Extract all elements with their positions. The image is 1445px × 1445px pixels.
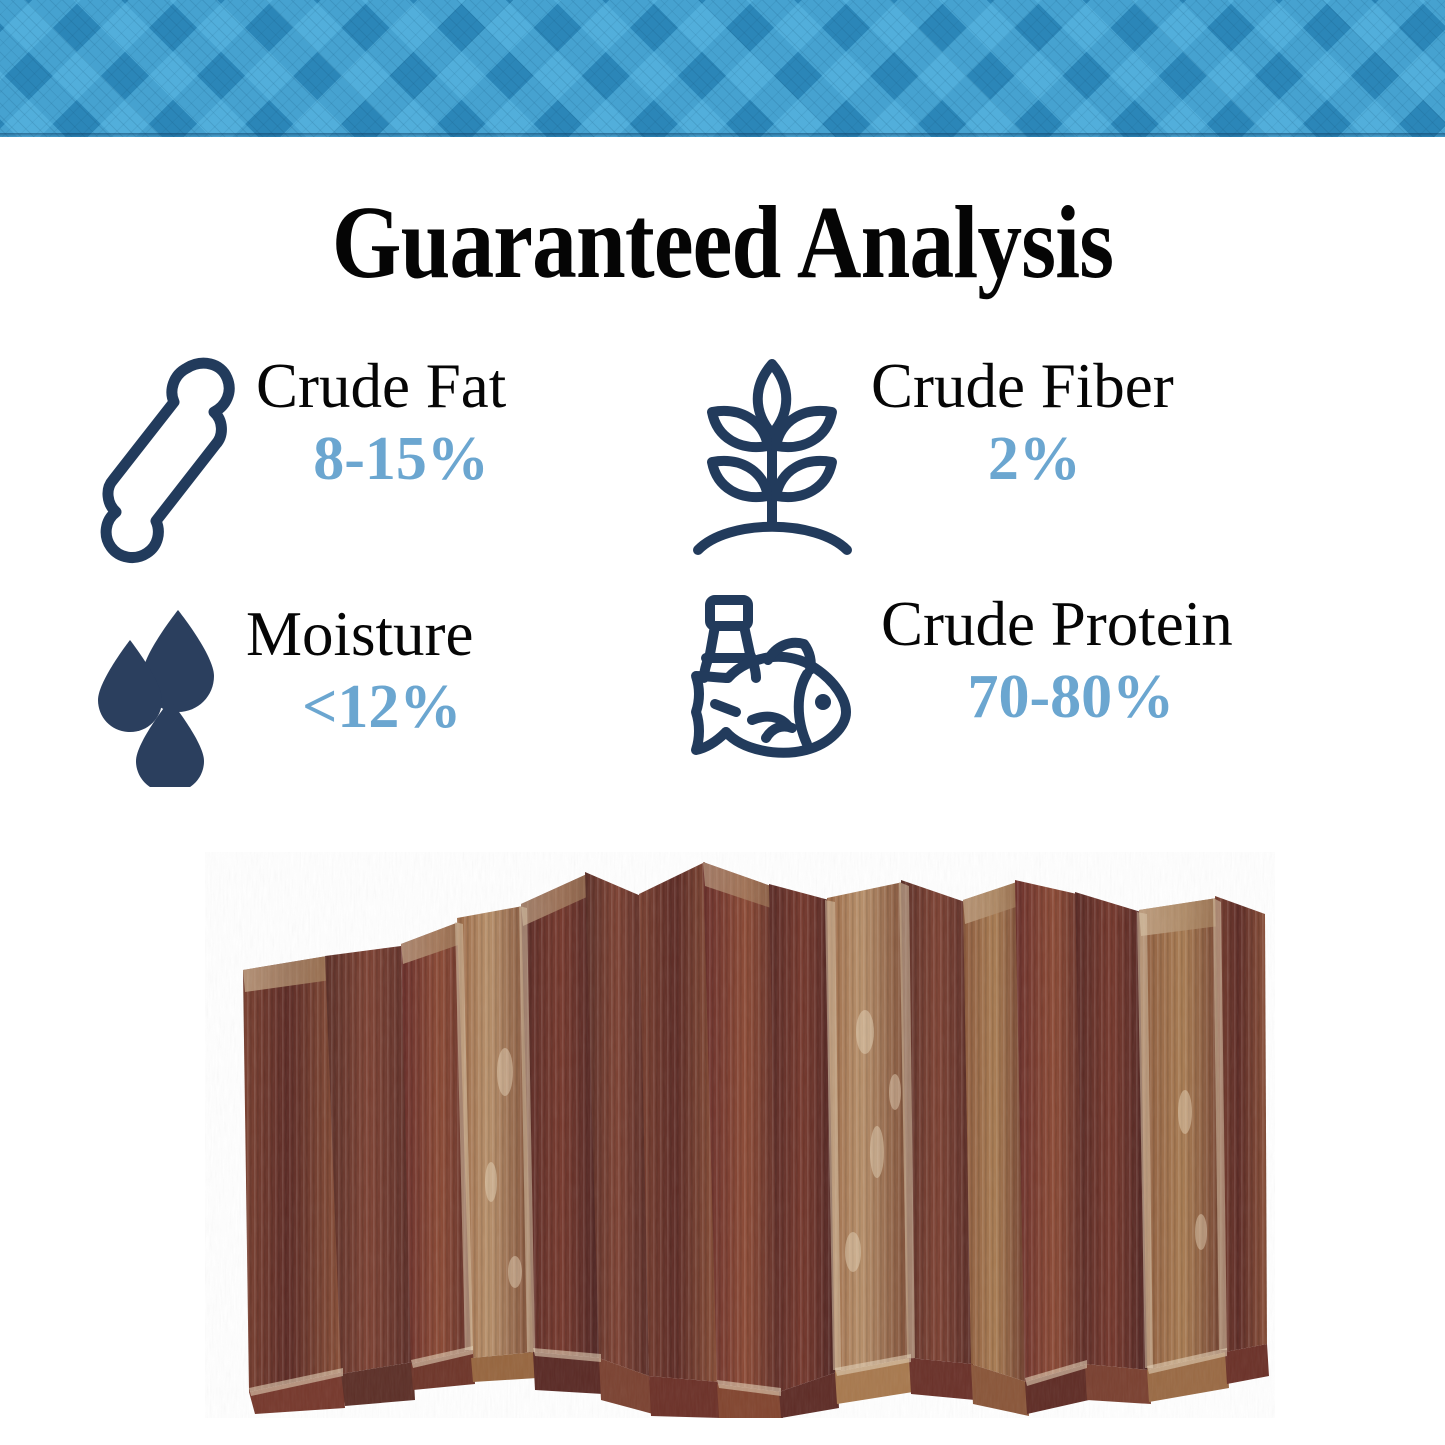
- page-title: Guaranteed Analysis: [101, 188, 1344, 297]
- wheat-plant-icon: [690, 354, 855, 564]
- stat-value: <12%: [246, 666, 473, 750]
- stat-label: Crude Fiber: [871, 354, 1174, 418]
- stat-label: Moisture: [246, 602, 473, 666]
- stat-text-crude-fat: Crude Fat 8-15%: [240, 354, 506, 502]
- stat-label: Crude Fat: [256, 354, 506, 418]
- stat-value: 70-80%: [881, 656, 1233, 740]
- stat-value: 8-15%: [256, 418, 506, 502]
- stat-item-moisture: Moisture <12%: [90, 602, 473, 792]
- stat-item-crude-fiber: Crude Fiber 2%: [690, 354, 1174, 564]
- stat-item-crude-protein: Crude Protein 70-80%: [670, 592, 1233, 777]
- water-drops-icon: [90, 602, 230, 792]
- gingham-weave-texture: [0, 0, 1445, 137]
- stat-text-crude-protein: Crude Protein 70-80%: [865, 592, 1233, 740]
- stat-text-moisture: Moisture <12%: [230, 602, 473, 750]
- fish-oil-icon: [670, 592, 865, 777]
- guaranteed-analysis-grid: Crude Fat 8-15%: [70, 352, 1390, 802]
- stat-item-crude-fat: Crude Fat 8-15%: [90, 354, 506, 574]
- dried-beef-strips-photo: [205, 852, 1275, 1418]
- stat-label: Crude Protein: [881, 592, 1233, 656]
- stat-text-crude-fiber: Crude Fiber 2%: [855, 354, 1174, 502]
- decorative-gingham-banner: [0, 0, 1445, 137]
- banner-bottom-edge: [0, 133, 1445, 137]
- bone-icon: [90, 354, 240, 574]
- stat-value: 2%: [871, 418, 1174, 502]
